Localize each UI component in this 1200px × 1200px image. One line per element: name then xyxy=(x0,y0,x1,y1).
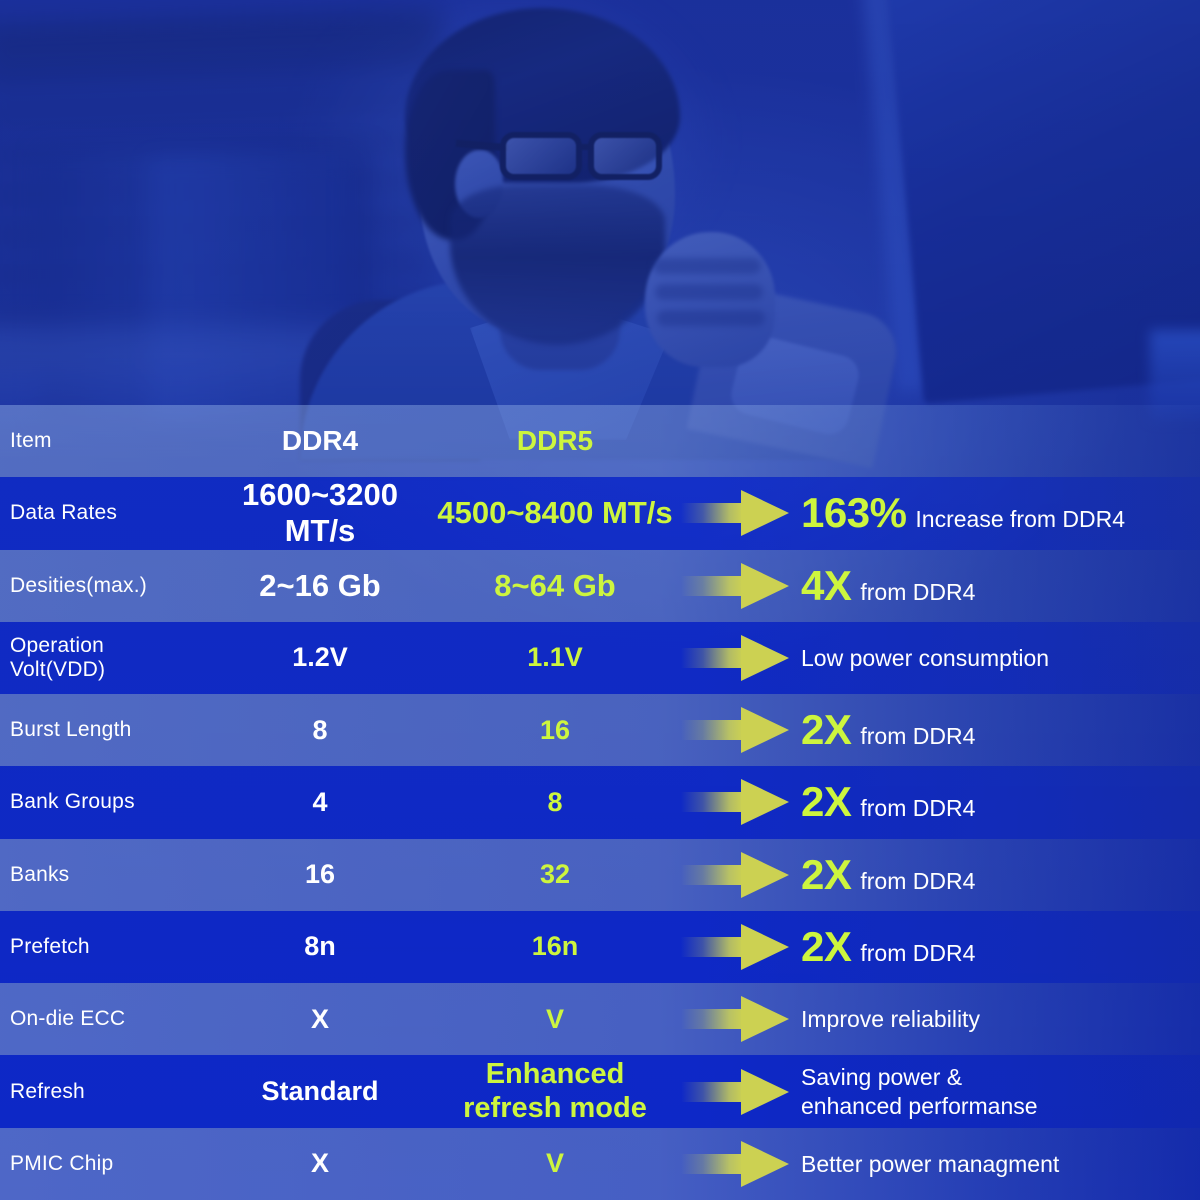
arrow-tail xyxy=(681,1154,743,1174)
cell-ddr5: 8 xyxy=(435,787,675,818)
row-label: On-die ECC xyxy=(0,1007,205,1031)
arrow-cell xyxy=(675,635,795,681)
arrow-tail xyxy=(681,1082,743,1102)
arrow-cell xyxy=(675,996,795,1042)
benefit-metric: 2X xyxy=(801,854,851,896)
arrow-tail xyxy=(681,937,743,957)
benefit-text: Increase from DDR4 xyxy=(915,506,1125,533)
right-arrow-icon xyxy=(681,635,789,681)
cell-benefit: Better power managment xyxy=(795,1150,1200,1178)
arrow-tail xyxy=(681,576,743,596)
column-header-ddr4: DDR4 xyxy=(205,425,435,457)
benefit-metric: 2X xyxy=(801,781,851,823)
benefit-metric: 4X xyxy=(801,565,851,607)
table-row: RefreshStandardEnhanced refresh modeSavi… xyxy=(0,1055,1200,1127)
cell-ddr4: 1.2V xyxy=(205,642,435,673)
column-header-ddr5: DDR5 xyxy=(435,425,675,457)
right-arrow-icon xyxy=(681,924,789,970)
cell-benefit: 2Xfrom DDR4 xyxy=(795,781,1200,823)
row-label: Operation Volt(VDD) xyxy=(0,634,205,682)
cell-ddr4: X xyxy=(205,1004,435,1035)
right-arrow-icon xyxy=(681,996,789,1042)
ddr-comparison-infographic: ItemDDR4DDR5Data Rates1600~3200 MT/s4500… xyxy=(0,0,1200,1200)
right-arrow-icon xyxy=(681,852,789,898)
comparison-table: ItemDDR4DDR5Data Rates1600~3200 MT/s4500… xyxy=(0,405,1200,1200)
arrow-head xyxy=(741,563,789,609)
benefit-text: Improve reliability xyxy=(801,1005,980,1033)
arrow-cell xyxy=(675,1069,795,1115)
arrow-cell xyxy=(675,563,795,609)
benefit-metric: 163% xyxy=(801,492,906,534)
arrow-head xyxy=(741,1141,789,1187)
arrow-tail xyxy=(681,720,743,740)
table-row: Burst Length8162Xfrom DDR4 xyxy=(0,694,1200,766)
table-row: Data Rates1600~3200 MT/s4500~8400 MT/s16… xyxy=(0,477,1200,549)
arrow-tail xyxy=(681,1009,743,1029)
cell-benefit: Saving power & enhanced performanse xyxy=(795,1063,1200,1119)
arrow-head xyxy=(741,707,789,753)
cell-benefit: 2Xfrom DDR4 xyxy=(795,854,1200,896)
row-label: Prefetch xyxy=(0,935,205,959)
cell-benefit: 163%Increase from DDR4 xyxy=(795,492,1200,534)
cell-benefit: 2Xfrom DDR4 xyxy=(795,926,1200,968)
cell-ddr4: 8n xyxy=(205,931,435,962)
arrow-cell xyxy=(675,490,795,536)
right-arrow-icon xyxy=(681,779,789,825)
cell-ddr4: Standard xyxy=(205,1076,435,1107)
table-row: Desities(max.)2~16 Gb8~64 Gb4Xfrom DDR4 xyxy=(0,550,1200,622)
arrow-cell xyxy=(675,1141,795,1187)
cell-ddr4: 1600~3200 MT/s xyxy=(205,477,435,549)
cell-benefit: Improve reliability xyxy=(795,1005,1200,1033)
arrow-head xyxy=(741,852,789,898)
arrow-head xyxy=(741,924,789,970)
table-header-row: ItemDDR4DDR5 xyxy=(0,405,1200,477)
row-label: PMIC Chip xyxy=(0,1152,205,1176)
arrow-cell xyxy=(675,852,795,898)
cell-ddr4: X xyxy=(205,1148,435,1179)
arrow-tail xyxy=(681,503,743,523)
table-row: Operation Volt(VDD)1.2V1.1VLow power con… xyxy=(0,622,1200,694)
table-row: Prefetch8n16n2Xfrom DDR4 xyxy=(0,911,1200,983)
benefit-metric: 2X xyxy=(801,926,851,968)
cell-ddr5: V xyxy=(435,1004,675,1035)
table-row: Bank Groups482Xfrom DDR4 xyxy=(0,766,1200,838)
benefit-text: Saving power & enhanced performanse xyxy=(801,1063,1038,1119)
column-header-item: Item xyxy=(0,429,205,453)
benefit-metric: 2X xyxy=(801,709,851,751)
table-row: On-die ECCXVImprove reliability xyxy=(0,983,1200,1055)
benefit-text: from DDR4 xyxy=(860,723,975,750)
benefit-text: from DDR4 xyxy=(860,940,975,967)
arrow-cell xyxy=(675,924,795,970)
cell-benefit: Low power consumption xyxy=(795,644,1200,672)
right-arrow-icon xyxy=(681,490,789,536)
arrow-cell xyxy=(675,707,795,753)
cell-ddr5: 8~64 Gb xyxy=(435,568,675,604)
arrow-head xyxy=(741,1069,789,1115)
cell-ddr5: 16 xyxy=(435,715,675,746)
cell-ddr5: V xyxy=(435,1148,675,1179)
cell-ddr5: 1.1V xyxy=(435,642,675,673)
table-row: Banks16322Xfrom DDR4 xyxy=(0,839,1200,911)
arrow-head xyxy=(741,635,789,681)
benefit-text: from DDR4 xyxy=(860,868,975,895)
cell-ddr4: 4 xyxy=(205,787,435,818)
right-arrow-icon xyxy=(681,1069,789,1115)
cell-benefit: 4Xfrom DDR4 xyxy=(795,565,1200,607)
cell-benefit: 2Xfrom DDR4 xyxy=(795,709,1200,751)
arrow-head xyxy=(741,490,789,536)
row-label: Desities(max.) xyxy=(0,574,205,598)
row-label: Data Rates xyxy=(0,501,205,525)
cell-ddr4: 16 xyxy=(205,859,435,890)
arrow-head xyxy=(741,996,789,1042)
cell-ddr4: 8 xyxy=(205,715,435,746)
benefit-text: Low power consumption xyxy=(801,644,1049,672)
arrow-tail xyxy=(681,792,743,812)
arrow-head xyxy=(741,779,789,825)
table-row: PMIC ChipXVBetter power managment xyxy=(0,1128,1200,1200)
row-label: Burst Length xyxy=(0,718,205,742)
benefit-text: from DDR4 xyxy=(860,579,975,606)
cell-ddr5: 4500~8400 MT/s xyxy=(435,495,675,531)
benefit-text: Better power managment xyxy=(801,1150,1059,1178)
row-label: Bank Groups xyxy=(0,790,205,814)
row-label: Banks xyxy=(0,863,205,887)
cell-ddr5: Enhanced refresh mode xyxy=(435,1058,675,1125)
cell-ddr4: 2~16 Gb xyxy=(205,568,435,604)
row-label: Refresh xyxy=(0,1080,205,1104)
right-arrow-icon xyxy=(681,1141,789,1187)
cell-ddr5: 16n xyxy=(435,931,675,962)
arrow-tail xyxy=(681,865,743,885)
arrow-tail xyxy=(681,648,743,668)
right-arrow-icon xyxy=(681,563,789,609)
arrow-cell xyxy=(675,779,795,825)
cell-ddr5: 32 xyxy=(435,859,675,890)
right-arrow-icon xyxy=(681,707,789,753)
benefit-text: from DDR4 xyxy=(860,795,975,822)
